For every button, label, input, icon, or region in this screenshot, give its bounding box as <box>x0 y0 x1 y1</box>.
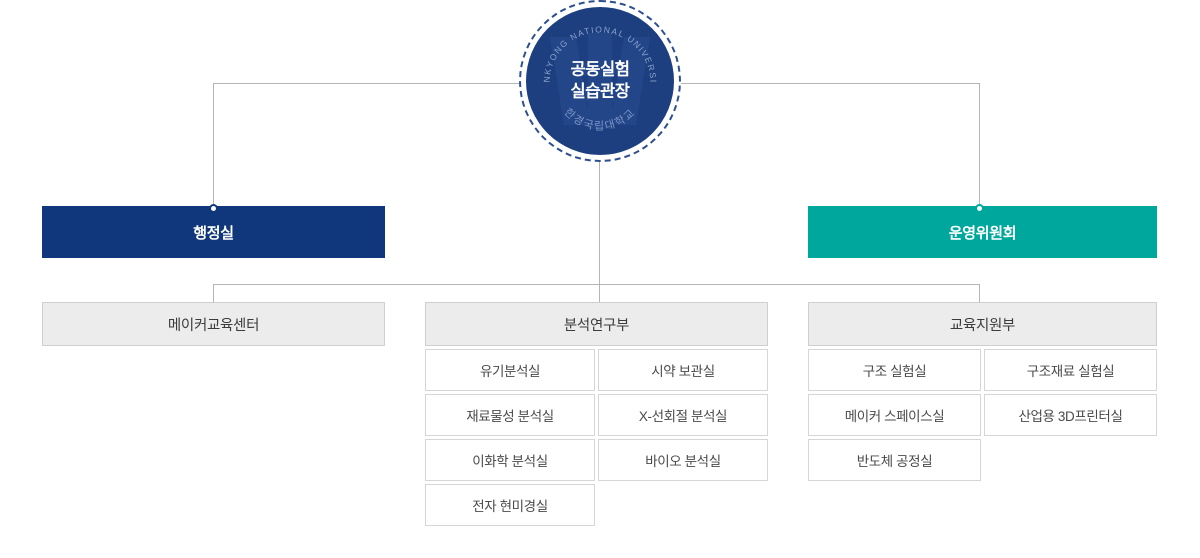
connector-dot-administration <box>209 204 218 213</box>
connector-root-to-committee-horizontal <box>679 83 980 84</box>
unit-box-administration[interactable]: 행정실 <box>42 206 385 258</box>
connector-committee-vertical <box>979 83 980 208</box>
department-header-maker-education-center[interactable]: 메이커교육센터 <box>42 302 385 346</box>
department-cell[interactable]: 구조재료 실험실 <box>984 349 1157 391</box>
department-header-analysis-research-division[interactable]: 분석연구부 <box>425 302 768 346</box>
department-cell[interactable]: 반도체 공정실 <box>808 439 981 481</box>
department-header-label: 메이커교육센터 <box>168 314 259 335</box>
connector-dot-steering-committee <box>975 204 984 213</box>
root-node-label: 공동실험 실습관장 <box>519 59 681 104</box>
root-label-line-1: 공동실험 <box>519 59 681 81</box>
department-cell[interactable]: 전자 현미경실 <box>425 484 595 526</box>
department-cell[interactable]: 시약 보관실 <box>598 349 768 391</box>
connector-administration-vertical <box>213 83 214 208</box>
department-column-maker-education-center: 메이커교육센터 <box>42 302 385 349</box>
department-cell[interactable]: 이화학 분석실 <box>425 439 595 481</box>
root-node-joint-lab-director[interactable]: HANKYONG NATIONAL UNIVERSITY 한경국립대학교 공동실… <box>519 0 681 162</box>
department-cells-education-support-division: 구조 실험실구조재료 실험실메이커 스페이스실산업용 3D프린터실반도체 공정실 <box>808 349 1157 481</box>
department-cell[interactable]: 유기분석실 <box>425 349 595 391</box>
department-column-education-support-division: 교육지원부 구조 실험실구조재료 실험실메이커 스페이스실산업용 3D프린터실반… <box>808 302 1157 481</box>
unit-box-steering-committee[interactable]: 운영위원회 <box>808 206 1157 258</box>
connector-root-to-administration-horizontal <box>213 83 521 84</box>
root-label-line-2: 실습관장 <box>519 81 681 103</box>
department-header-label: 교육지원부 <box>950 314 1015 335</box>
unit-label-steering-committee: 운영위원회 <box>949 222 1017 243</box>
organization-chart: HANKYONG NATIONAL UNIVERSITY 한경국립대학교 공동실… <box>0 0 1200 558</box>
department-cell[interactable]: 구조 실험실 <box>808 349 981 391</box>
connector-maker-center-drop <box>213 284 214 302</box>
department-cell[interactable]: X-선회절 분석실 <box>598 394 768 436</box>
department-cell[interactable]: 재료물성 분석실 <box>425 394 595 436</box>
connector-root-spine-vertical <box>599 156 600 302</box>
department-cells-analysis-research-division: 유기분석실시약 보관실재료물성 분석실X-선회절 분석실이화학 분석실바이오 분… <box>425 349 768 526</box>
unit-label-administration: 행정실 <box>193 222 234 243</box>
connector-education-support-drop <box>979 284 980 302</box>
department-column-analysis-research-division: 분석연구부 유기분석실시약 보관실재료물성 분석실X-선회절 분석실이화학 분석… <box>425 302 768 526</box>
department-header-label: 분석연구부 <box>564 314 629 335</box>
department-cell[interactable]: 바이오 분석실 <box>598 439 768 481</box>
connector-department-distributor <box>213 284 980 285</box>
department-cell[interactable]: 산업용 3D프린터실 <box>984 394 1157 436</box>
department-cell[interactable]: 메이커 스페이스실 <box>808 394 981 436</box>
department-header-education-support-division[interactable]: 교육지원부 <box>808 302 1157 346</box>
